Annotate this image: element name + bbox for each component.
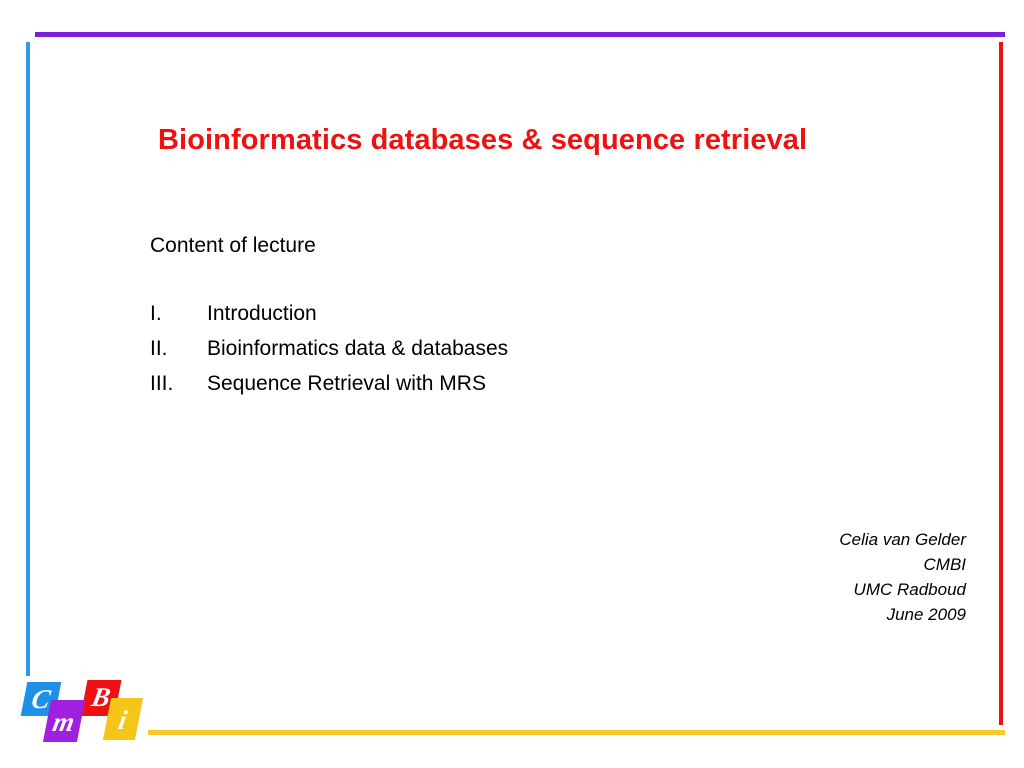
logo-tile-i: i <box>103 698 143 740</box>
author-organization: UMC Radboud <box>839 577 966 602</box>
lecture-contents-list: I.Introduction II.Bioinformatics data & … <box>150 296 850 401</box>
list-item-label: Introduction <box>207 296 317 331</box>
author-date: June 2009 <box>839 602 966 627</box>
logo-tile-m: m <box>43 700 85 742</box>
top-purple-rule <box>35 32 1005 37</box>
list-item-label: Bioinformatics data & databases <box>207 331 508 366</box>
slide-title: Bioinformatics databases & sequence retr… <box>158 122 918 158</box>
bottom-yellow-rule <box>148 730 1005 735</box>
author-institute: CMBI <box>839 552 966 577</box>
content-of-lecture-heading: Content of lecture <box>150 232 850 260</box>
right-red-rule <box>999 42 1003 725</box>
slide-body: Content of lecture I.Introduction II.Bio… <box>150 232 850 401</box>
cmbi-logo: C B m i <box>22 678 148 746</box>
slide-canvas: Bioinformatics databases & sequence retr… <box>0 0 1024 768</box>
list-item-numeral: I. <box>150 296 207 331</box>
list-item: III.Sequence Retrieval with MRS <box>150 366 850 401</box>
list-item-label: Sequence Retrieval with MRS <box>207 366 486 401</box>
author-block: Celia van Gelder CMBI UMC Radboud June 2… <box>839 527 966 627</box>
list-item-numeral: II. <box>150 331 207 366</box>
left-blue-rule <box>26 42 30 676</box>
list-item: II.Bioinformatics data & databases <box>150 331 850 366</box>
list-item-numeral: III. <box>150 366 207 401</box>
author-name: Celia van Gelder <box>839 527 966 552</box>
list-item: I.Introduction <box>150 296 850 331</box>
